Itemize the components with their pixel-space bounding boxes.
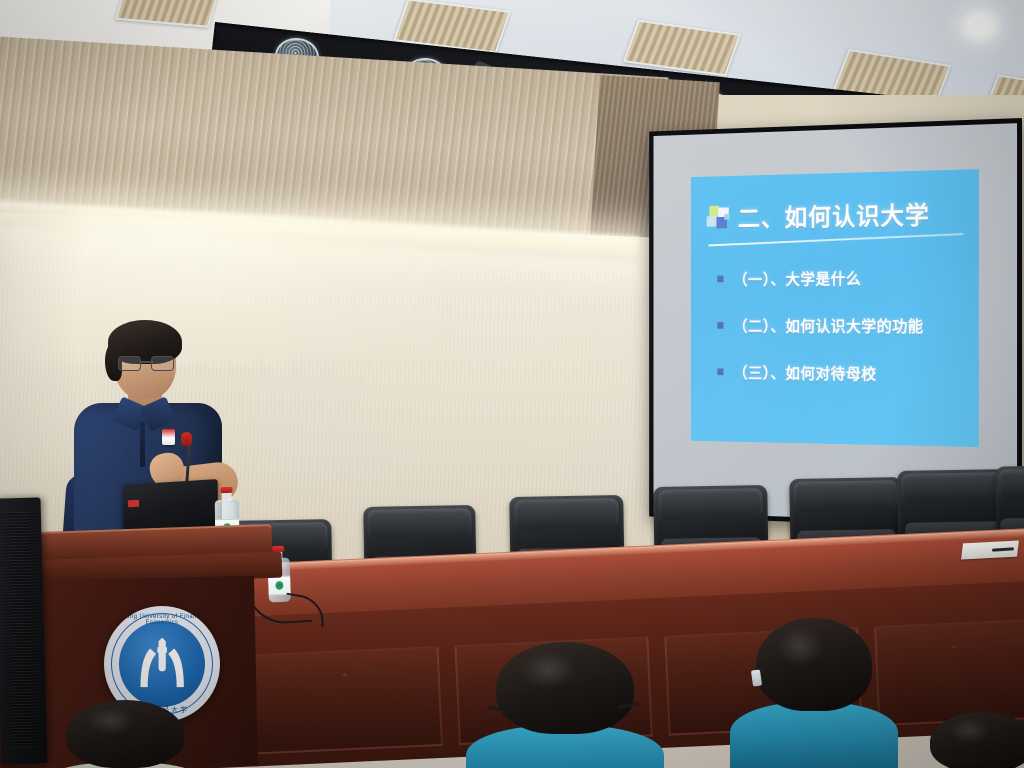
squares-cluster-icon <box>707 205 730 230</box>
slide-title: 二、如何认识大学 <box>738 196 930 235</box>
audience-member <box>496 642 634 768</box>
slide-bullet-list: （一）、大学是什么 （二）、如何认识大学的功能 （三）、如何对待母校 <box>717 264 979 385</box>
projection-screen-frame: 二、如何认识大学 （一）、大学是什么 （二）、如何认识大学的功能 （三）、如何对… <box>649 118 1022 530</box>
slide-title-row: 二、如何认识大学 <box>707 195 979 235</box>
pa-speaker-grill <box>0 512 42 748</box>
audience-member <box>66 700 184 768</box>
eyeglasses-icon <box>118 356 174 369</box>
gooseneck-microphone <box>181 432 192 446</box>
bullet-marker-icon <box>717 368 723 375</box>
emblem-text-en: Shandong University of Finance and Econo… <box>104 614 220 626</box>
table-panel <box>874 619 1024 726</box>
emblem-mountain-glyph <box>132 634 192 694</box>
slide-bullet-item: （一）、大学是什么 <box>717 264 979 289</box>
presenter-shirt-placket <box>140 421 145 467</box>
slide-title-underline <box>708 233 963 246</box>
ceiling-downlight <box>968 14 992 34</box>
audience-member <box>756 618 872 768</box>
table-panel <box>245 646 443 755</box>
bullet-marker-icon <box>717 275 723 282</box>
bullet-marker-icon <box>717 322 723 329</box>
slide-bullet-text: （二）、如何认识大学的功能 <box>733 313 923 337</box>
audience-member <box>930 712 1024 768</box>
laptop-logo-icon <box>128 500 139 508</box>
slide-bullet-text: （三）、如何对待母校 <box>733 360 876 384</box>
slide-bullet-text: （一）、大学是什么 <box>733 266 861 290</box>
slide-bullet-item: （三）、如何对待母校 <box>717 360 979 386</box>
lecture-hall-photo: 二、如何认识大学 （一）、大学是什么 （二）、如何认识大学的功能 （三）、如何对… <box>0 0 1024 768</box>
presentation-slide: 二、如何认识大学 （一）、大学是什么 （二）、如何认识大学的功能 （三）、如何对… <box>691 169 979 447</box>
slide-bullet-item: （二）、如何认识大学的功能 <box>717 313 979 337</box>
presenter-badge <box>162 429 175 445</box>
